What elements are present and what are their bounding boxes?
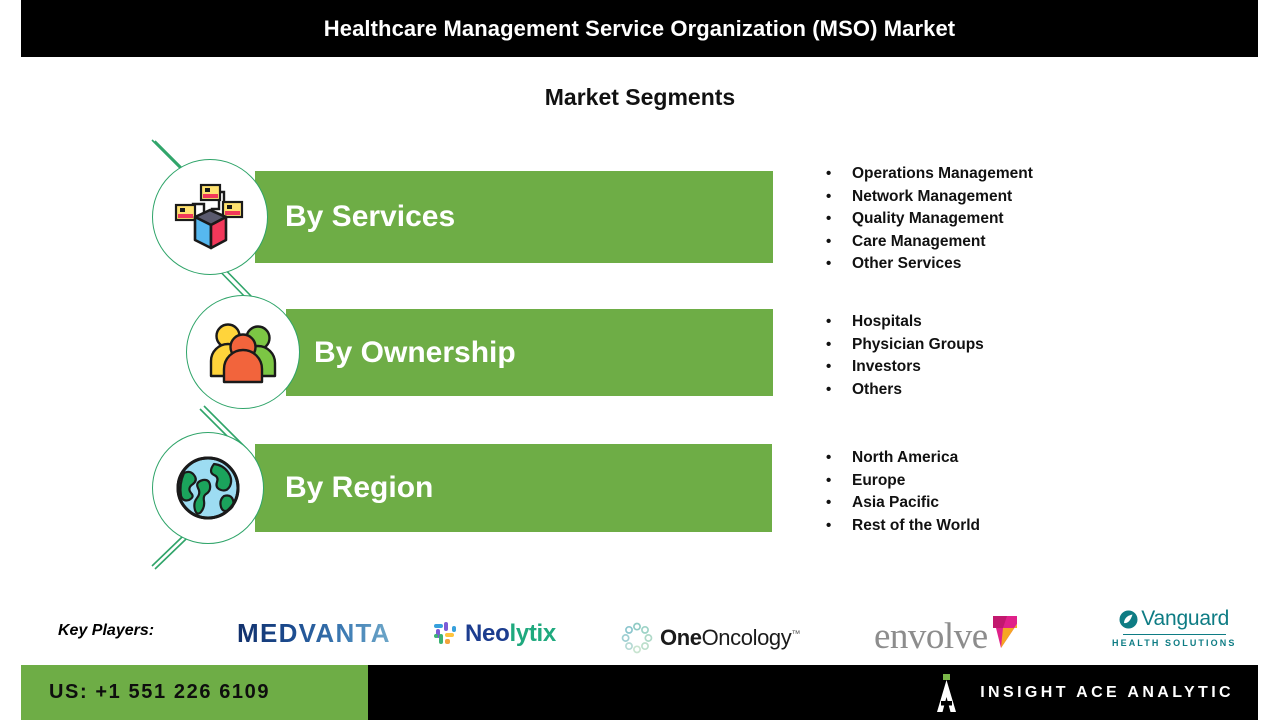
logo-neolytix-text: Neolytix xyxy=(465,620,556,648)
logo-medvanta: MEDVANTA xyxy=(237,618,391,649)
segment-icon-circle-services[interactable] xyxy=(152,159,268,275)
bullet-icon: • xyxy=(826,379,852,402)
logo-envolve: envolve xyxy=(874,614,1023,659)
network-cube-icon xyxy=(171,180,249,254)
bullet-icon: • xyxy=(826,470,852,493)
oneoncology-ring-icon xyxy=(621,622,653,654)
list-item: • Asia Pacific xyxy=(826,492,980,515)
logo-vanguard: Vanguard HEALTH SOLUTIONS xyxy=(1112,607,1236,648)
page-title: Healthcare Management Service Organizati… xyxy=(324,16,955,42)
list-item: • Investors xyxy=(826,356,984,379)
footer-brand-bar: INSIGHT ACE ANALYTIC xyxy=(368,665,1258,720)
vanguard-leaf-icon xyxy=(1119,610,1138,629)
list-item-label: Network Management xyxy=(852,186,1012,209)
bullet-list-region: • North America • Europe • Asia Pacific … xyxy=(826,447,980,537)
segment-label-region: By Region xyxy=(285,471,433,505)
section-title: Market Segments xyxy=(0,84,1280,111)
list-item: • Hospitals xyxy=(826,311,984,334)
list-item-label: Europe xyxy=(852,470,905,493)
key-players-label: Key Players: xyxy=(58,622,154,640)
list-item: • Quality Management xyxy=(826,208,1033,231)
globe-icon xyxy=(174,454,242,522)
logo-envolve-text: envolve xyxy=(874,618,988,655)
list-item: • Network Management xyxy=(826,186,1033,209)
logo-neolytix-text-part2: lytix xyxy=(509,620,556,647)
list-item: • Operations Management xyxy=(826,163,1033,186)
neolytix-pinwheel-icon xyxy=(432,620,460,648)
bullet-icon: • xyxy=(826,515,852,538)
segment-label-ownership: By Ownership xyxy=(314,336,516,370)
list-item: • Europe xyxy=(826,470,980,493)
list-item-label: Hospitals xyxy=(852,311,922,334)
list-item-label: Others xyxy=(852,379,902,402)
logo-vanguard-tagline: HEALTH SOLUTIONS xyxy=(1112,638,1236,648)
people-group-icon xyxy=(205,319,281,385)
list-item-label: Quality Management xyxy=(852,208,1004,231)
logo-oneoncology-text: OneOncology™ xyxy=(660,625,800,651)
infographic-page: Healthcare Management Service Organizati… xyxy=(0,0,1280,720)
segment-bar-region[interactable]: By Region xyxy=(255,444,772,532)
list-item: • Others xyxy=(826,379,984,402)
segment-icon-circle-ownership[interactable] xyxy=(186,295,300,409)
segment-bar-ownership[interactable]: By Ownership xyxy=(286,309,773,396)
insight-ace-logo-icon xyxy=(932,674,962,712)
list-item: • Physician Groups xyxy=(826,334,984,357)
logo-vanguard-rule xyxy=(1123,634,1226,635)
list-item-label: Rest of the World xyxy=(852,515,980,538)
logo-neolytix-text-part1: Neo xyxy=(465,620,509,647)
logo-oneoncology: OneOncology™ xyxy=(621,622,800,654)
logo-oneoncology-text-part1: One xyxy=(660,625,702,650)
brand-name: INSIGHT ACE ANALYTIC xyxy=(980,684,1234,702)
logo-vanguard-text: Vanguard xyxy=(1141,607,1229,631)
logo-neolytix: Neolytix xyxy=(432,620,556,648)
bullet-icon: • xyxy=(826,447,852,470)
bullet-list-ownership: • Hospitals • Physician Groups • Investo… xyxy=(826,311,984,401)
brand-lockup: INSIGHT ACE ANALYTIC xyxy=(932,674,1234,712)
logo-oneoncology-text-part2: Oncology xyxy=(702,625,792,650)
bullet-icon: • xyxy=(826,208,852,231)
list-item: • North America xyxy=(826,447,980,470)
list-item-label: Asia Pacific xyxy=(852,492,939,515)
bullet-icon: • xyxy=(826,253,852,276)
logo-medvanta-text: MEDVANTA xyxy=(237,618,391,649)
list-item-label: Physician Groups xyxy=(852,334,984,357)
bullet-icon: • xyxy=(826,311,852,334)
header-bar: Healthcare Management Service Organizati… xyxy=(21,0,1258,57)
bullet-icon: • xyxy=(826,163,852,186)
logo-vanguard-row: Vanguard xyxy=(1119,607,1229,631)
list-item: • Rest of the World xyxy=(826,515,980,538)
list-item-label: North America xyxy=(852,447,958,470)
bullet-icon: • xyxy=(826,334,852,357)
bullet-icon: • xyxy=(826,186,852,209)
bullet-icon: • xyxy=(826,231,852,254)
list-item-label: Care Management xyxy=(852,231,986,254)
segment-bar-services[interactable]: By Services xyxy=(255,171,773,263)
list-item-label: Operations Management xyxy=(852,163,1033,186)
envolve-swoosh-icon xyxy=(987,614,1023,659)
list-item-label: Investors xyxy=(852,356,921,379)
segment-label-services: By Services xyxy=(285,200,455,234)
bullet-icon: • xyxy=(826,356,852,379)
list-item: • Other Services xyxy=(826,253,1033,276)
list-item: • Care Management xyxy=(826,231,1033,254)
bullet-icon: • xyxy=(826,492,852,515)
footer-contact-bar: US: +1 551 226 6109 xyxy=(21,665,368,720)
list-item-label: Other Services xyxy=(852,253,961,276)
footer-phone[interactable]: US: +1 551 226 6109 xyxy=(49,681,270,704)
bullet-list-services: • Operations Management • Network Manage… xyxy=(826,163,1033,276)
logo-oneoncology-tm: ™ xyxy=(791,629,800,639)
segment-icon-circle-region[interactable] xyxy=(152,432,264,544)
